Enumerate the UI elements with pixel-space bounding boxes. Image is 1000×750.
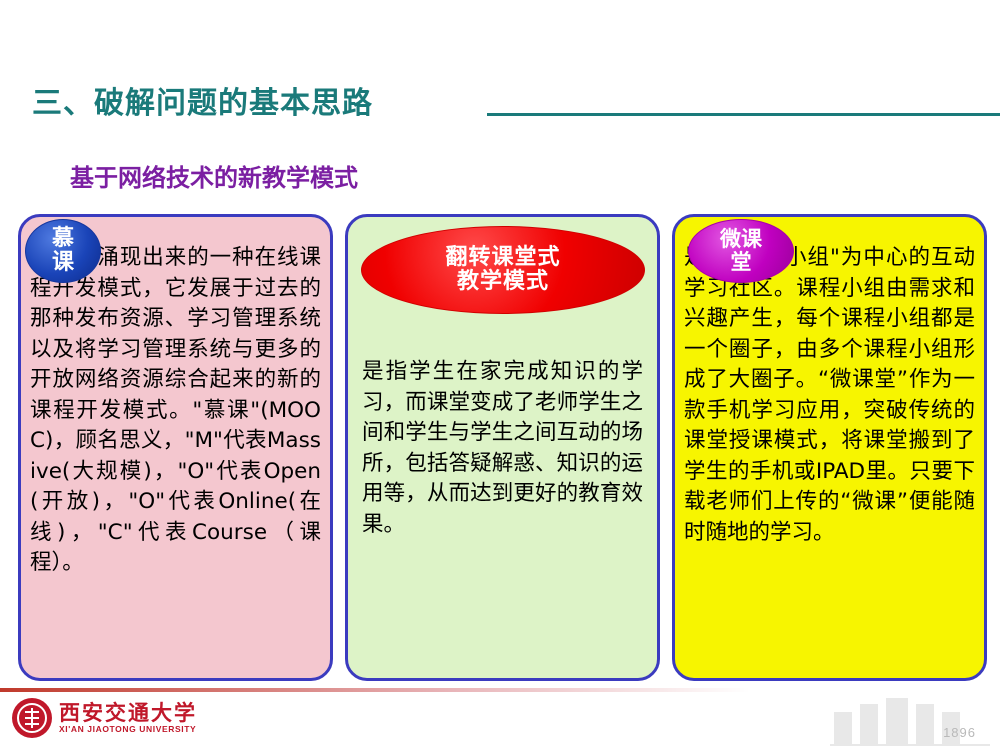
badge-flipped-classroom-line-1: 翻转课堂式	[445, 246, 560, 270]
page-title: 三、破解问题的基本思路	[32, 78, 373, 122]
university-logo: 西安交通大学 XI'AN JIAOTONG UNIVERSITY	[12, 698, 197, 738]
university-name-en: XI'AN JIAOTONG UNIVERSITY	[59, 724, 197, 734]
badge-micro-classroom-line-1: 微课	[720, 228, 762, 251]
badge-flipped-classroom-line-2: 教学模式	[445, 270, 560, 294]
university-seal-icon	[12, 698, 52, 738]
badge-flipped-classroom: 翻转课堂式 教学模式	[361, 226, 645, 314]
badge-mooc-line-2: 课	[52, 251, 74, 275]
badge-mooc: 慕 课	[25, 219, 101, 283]
badge-mooc-line-1: 慕	[52, 227, 74, 251]
badge-micro-classroom: 微课 堂	[688, 219, 794, 283]
founding-year-watermark: 1896	[943, 725, 976, 740]
page-subtitle: 基于网络技术的新教学模式	[70, 158, 358, 193]
university-name-cn: 西安交通大学	[59, 702, 197, 724]
title-underline-rule	[487, 113, 1000, 116]
card-micro-classroom: 是以"课程小组"为中心的互动学习社区。课程小组由需求和兴趣产生，每个课程小组都是…	[672, 214, 987, 681]
badge-micro-classroom-line-2: 堂	[720, 251, 762, 274]
card-mooc: 是新近涌现出来的一种在线课程开发模式，它发展于过去的那种发布资源、学习管理系统以…	[18, 214, 333, 681]
footer-divider	[0, 688, 1000, 692]
